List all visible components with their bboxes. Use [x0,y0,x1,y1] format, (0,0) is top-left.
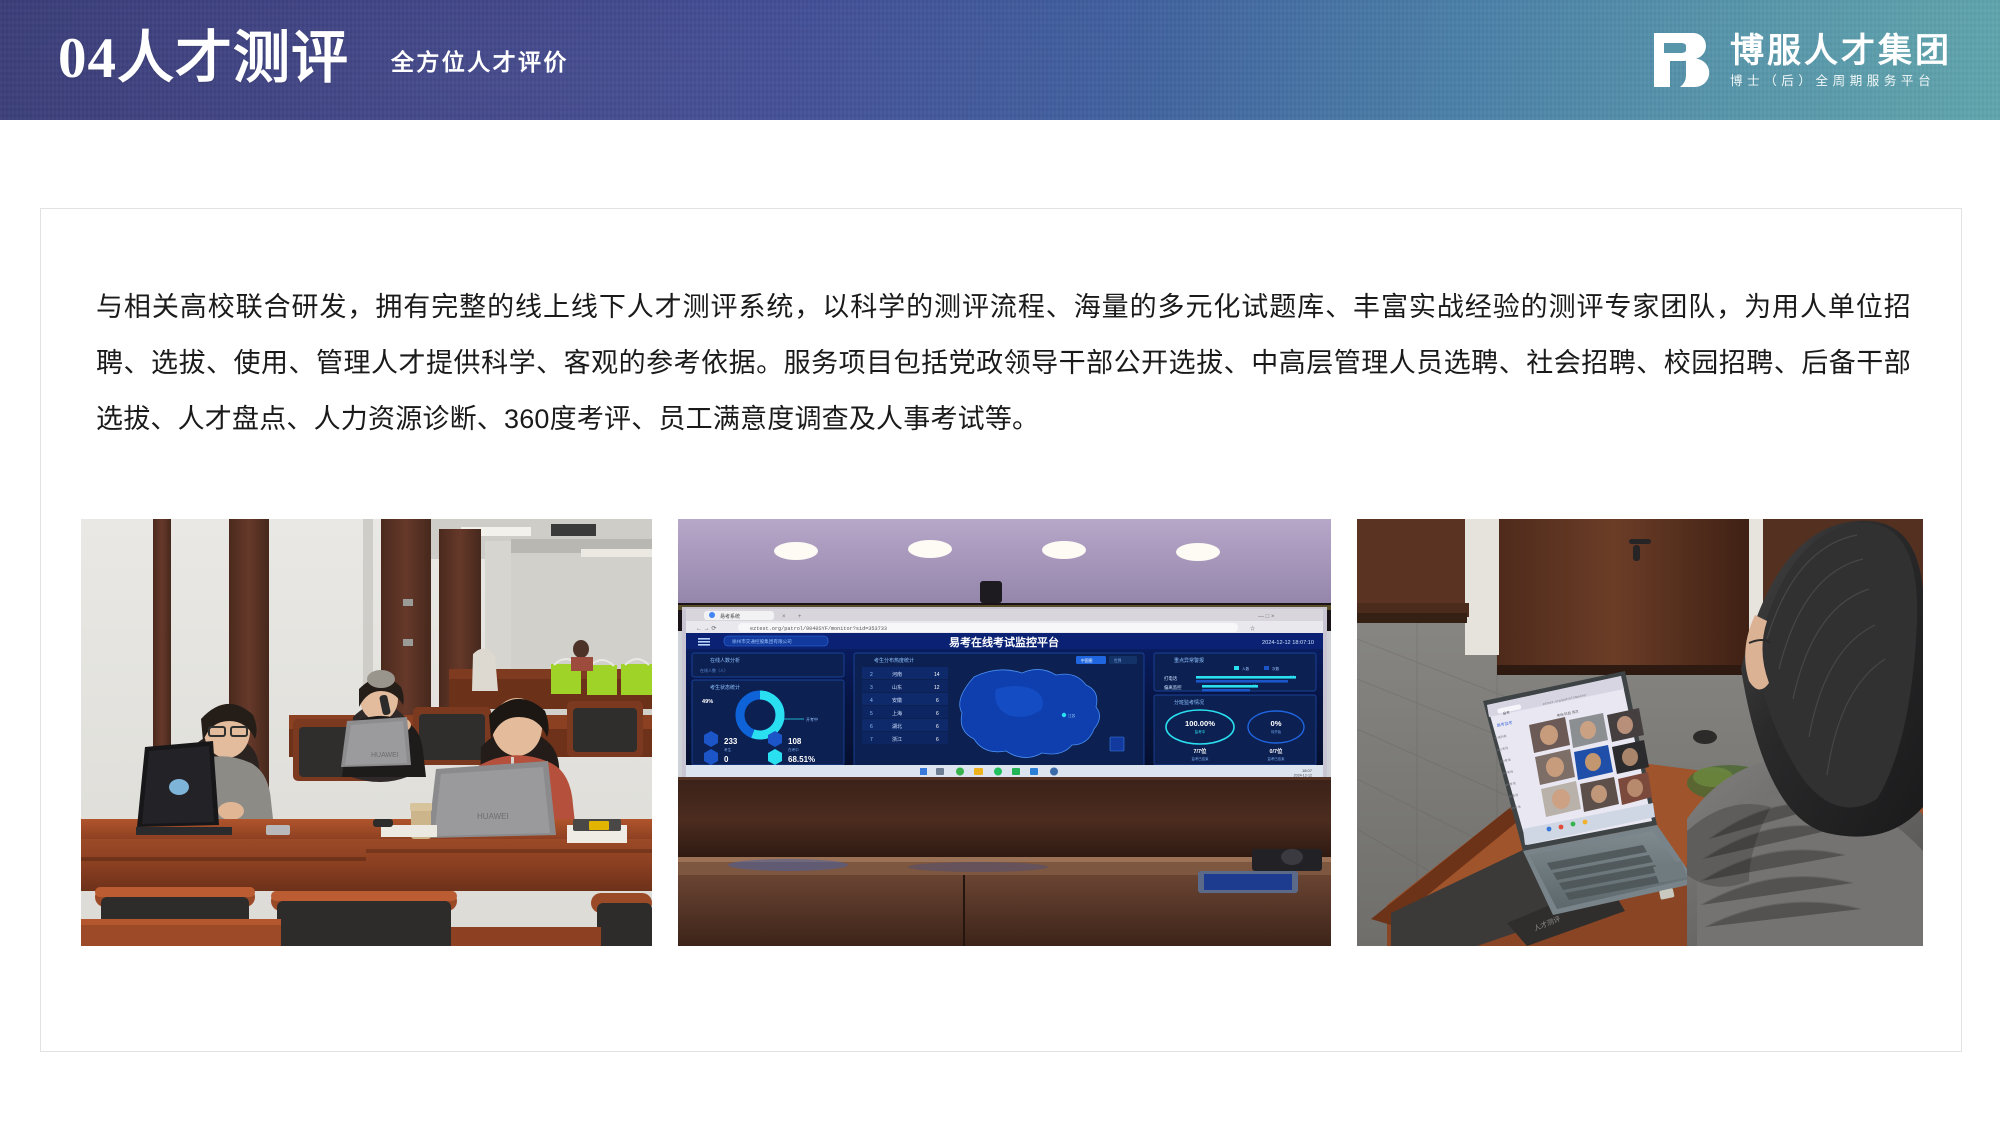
header-title-group: 04人才测评 全方位人才评价 [58,0,569,120]
svg-text:×: × [782,614,786,620]
svg-text:2024-12-12: 2024-12-12 [1294,774,1312,778]
svg-text:开考中: 开考中 [806,716,818,722]
svg-text:打电话: 打电话 [1164,675,1178,682]
svg-text:6: 6 [936,724,939,730]
svg-text:易考在线考试监控平台: 易考在线考试监控平台 [949,635,1059,649]
svg-text:2: 2 [870,672,873,678]
svg-text:考生: 考生 [724,747,732,752]
svg-text:次数: 次数 [1272,666,1280,671]
svg-text:在线人数分析: 在线人数分析 [710,657,740,664]
photo-gallery: HUAWEI HUAWEI [81,519,1923,946]
svg-text:HUAWEI: HUAWEI [371,752,399,759]
svg-text:6: 6 [936,737,939,743]
svg-text:徐州市交通控股集团有限公司: 徐州市交通控股集团有限公司 [732,638,792,645]
svg-text:湖北: 湖北 [892,723,902,730]
svg-text:100.00%: 100.00% [1185,719,1215,728]
svg-text:上海: 上海 [892,710,902,717]
brand-name: 博服人才集团 [1730,34,1952,68]
svg-text:108: 108 [788,737,802,746]
svg-text:68.51%: 68.51% [788,755,815,764]
svg-text:考生状态统计: 考生状态统计 [710,684,740,691]
brand-text: 博服人才集团 博士（后）全周期服务平台 [1730,32,1952,88]
svg-text:14: 14 [934,672,940,678]
svg-text:☆: ☆ [1250,625,1255,632]
svg-text:49%: 49% [702,699,713,705]
page-subtitle: 全方位人才评价 [391,51,569,74]
svg-text:安徽: 安徽 [892,697,902,704]
svg-text:世界: 世界 [1114,658,1122,663]
svg-text:在线人数（人）: 在线人数（人） [700,667,728,673]
svg-text:6: 6 [936,711,939,717]
svg-text:3: 3 [870,685,873,691]
svg-text:0/7位: 0/7位 [1270,747,1283,755]
svg-text:4: 4 [870,698,873,704]
svg-text:待开始: 待开始 [1271,729,1282,734]
description-paragraph: 与相关高校联合研发，拥有完整的线上线下人才测评系统，以科学的测评流程、海量的多元… [96,279,1911,447]
content-panel: 与相关高校联合研发，拥有完整的线上线下人才测评系统，以科学的测评流程、海量的多元… [40,208,1962,1052]
svg-text:eztest.org/patrol/9040SYF/moni: eztest.org/patrol/9040SYF/monitor?sid=35… [750,626,887,632]
svg-text:+: + [798,614,802,620]
svg-text:7: 7 [870,737,873,743]
svg-text:山东: 山东 [892,684,902,691]
svg-text:6: 6 [870,724,873,730]
svg-text:重点异常警报: 重点异常警报 [1174,657,1204,664]
svg-text:5: 5 [870,711,873,717]
svg-text:江苏: 江苏 [1068,713,1076,718]
svg-text:4人: 4人 [1252,683,1258,688]
svg-text:监考已结束: 监考已结束 [1268,756,1286,761]
svg-text:← → ⟳: ← → ⟳ [696,626,716,632]
svg-text:监考已结束: 监考已结束 [1192,756,1210,761]
photo-assessment-room: HUAWEI HUAWEI [81,519,652,946]
svg-text:7/7位: 7/7位 [1194,747,1207,755]
svg-text:HUAWEI: HUAWEI [477,812,509,821]
svg-text:0%: 0% [1271,719,1282,728]
brand-logo: 博服人才集团 博士（后）全周期服务平台 [1650,0,1952,120]
svg-text:分班监考情况: 分班监考情况 [1174,699,1204,706]
svg-text:— □ ×: — □ × [1258,614,1275,620]
svg-text:0: 0 [724,755,729,764]
svg-text:中国图: 中国图 [1081,658,1093,663]
svg-text:偏离监控: 偏离监控 [1164,684,1182,691]
header-banner: 04人才测评 全方位人才评价 博服人才集团 博士（后）全周期服务平台 [0,0,2000,120]
page-title: 04人才测评 [58,30,349,87]
photo-remote-proctor: 人才测评 易考 eztest.org/patrol/monitor 易考监考 考… [1357,519,1923,946]
svg-text:在考中: 在考中 [788,747,799,752]
svg-text:易考系统: 易考系统 [720,613,740,620]
svg-text:河南: 河南 [892,671,902,678]
svg-text:考生分布热度统计: 考生分布热度统计 [874,657,914,664]
svg-text:18:07: 18:07 [1302,768,1313,773]
svg-text:浙江: 浙江 [892,736,902,743]
svg-text:监考中: 监考中 [1195,729,1206,734]
svg-text:人数: 人数 [1242,666,1250,671]
svg-text:9人: 9人 [1290,674,1296,679]
brand-tagline: 博士（后）全周期服务平台 [1730,75,1935,88]
svg-text:233: 233 [724,737,738,746]
bofu-b-monogram-icon [1650,27,1712,93]
svg-text:6: 6 [936,698,939,704]
photo-monitoring-wall: 易考系统 × + — □ × eztest.org/patrol/9040SYF… [678,519,1331,946]
svg-text:12: 12 [934,685,940,691]
svg-text:2024-12-12 18:07:10: 2024-12-12 18:07:10 [1262,640,1314,646]
